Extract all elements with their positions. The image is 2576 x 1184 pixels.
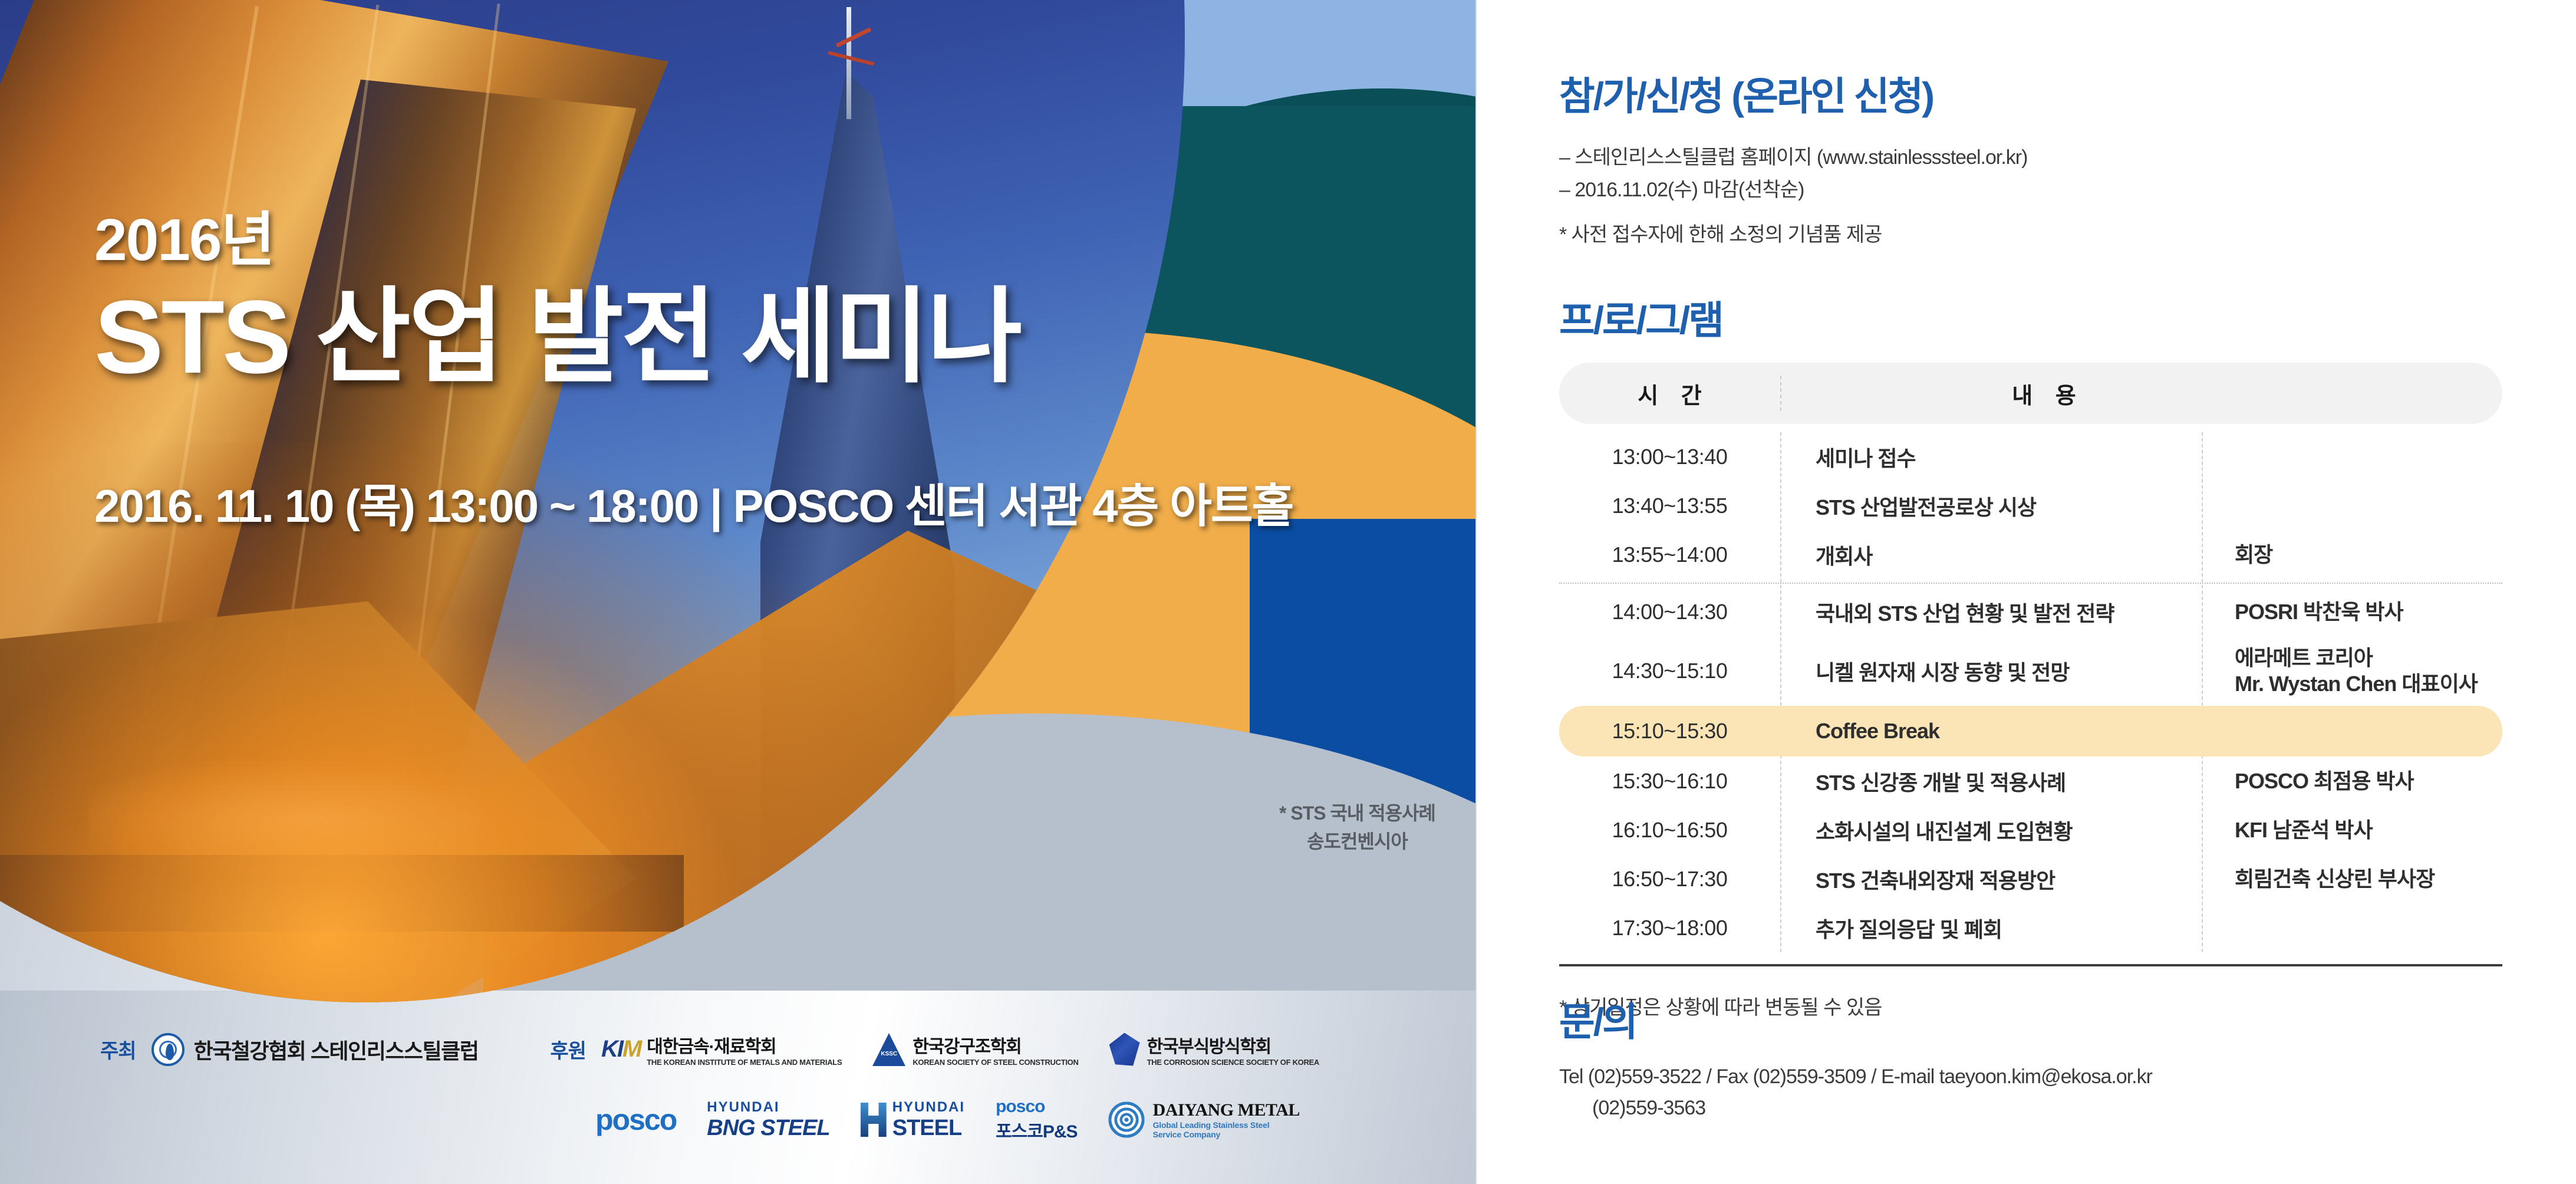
cell-time: 14:30~15:10 bbox=[1559, 659, 1780, 683]
cell-speaker: KFI 남준석 박사 bbox=[2202, 817, 2502, 843]
program-table: 시 간 내 용 13:00~13:40세미나 접수13:40~13:55STS … bbox=[1559, 363, 2502, 1020]
info-panel: 참/가/신/청 (온라인 신청) – 스테인리스스틸클럽 홈페이지 (www.s… bbox=[1477, 0, 2576, 1184]
logo-daiyang-metal: DAIYANG METAL Global Leading Stainless S… bbox=[1108, 1100, 1300, 1139]
photo-caption-line-2: 송도컨벤시아 bbox=[1279, 827, 1435, 856]
table-header-row: 시 간 내 용 bbox=[1559, 363, 2502, 424]
hyundai-line-2: STEEL bbox=[892, 1116, 965, 1141]
table-row: 13:40~13:55STS 산업발전공로상 시상 bbox=[1559, 481, 2502, 530]
apply-section-title: 참/가/신/청 (온라인 신청) bbox=[1559, 65, 1933, 121]
apply-bullets: – 스테인리스스틸클럽 홈페이지 (www.stainlesssteel.or.… bbox=[1559, 142, 2502, 206]
cssk-diamond-icon bbox=[1109, 1033, 1140, 1066]
contact-details: Tel (02)559-3522 / Fax (02)559-3509 / E-… bbox=[1559, 1061, 2152, 1123]
kssc-name-ko: 한국강구조학회 bbox=[913, 1032, 1078, 1058]
cell-time: 13:40~13:55 bbox=[1559, 494, 1780, 518]
cell-speaker: POSRI 박찬욱 박사 bbox=[2202, 599, 2502, 625]
bng-line-1: HYUNDAI bbox=[707, 1099, 829, 1116]
apply-bullet-2: – 2016.11.02(수) 마감(선착순) bbox=[1559, 174, 2502, 206]
daiyang-line-3: Service Company bbox=[1153, 1130, 1300, 1139]
daiyang-text: DAIYANG METAL Global Leading Stainless S… bbox=[1153, 1100, 1300, 1139]
logo-ksa: 한국철강협회 스테인리스스틸클럽 bbox=[151, 1033, 479, 1066]
support-label: 후원 bbox=[550, 1035, 586, 1064]
hyundai-line-1: HYUNDAI bbox=[892, 1099, 965, 1116]
cell-description: STS 산업발전공로상 시상 bbox=[1780, 491, 2202, 521]
cell-description: 소화시설의 내진설계 도입현황 bbox=[1780, 815, 2202, 846]
logo-bng-steel: HYUNDAI BNG STEEL bbox=[707, 1099, 829, 1141]
daiyang-line-1: DAIYANG METAL bbox=[1153, 1100, 1300, 1120]
kim-mark-icon: KIM bbox=[601, 1036, 641, 1063]
kssc-triangle-icon bbox=[872, 1033, 905, 1066]
logo-kssc: 한국강구조학회 Korean Society of Steel Construc… bbox=[872, 1032, 1078, 1067]
hyundai-text: HYUNDAI STEEL bbox=[892, 1099, 965, 1141]
hero-year: 2016년 bbox=[94, 209, 1020, 271]
ksa-seal-icon bbox=[151, 1033, 185, 1066]
program-footnote: * 상기일정은 상황에 따라 변동될 수 있음 bbox=[1559, 991, 2502, 1020]
kim-text: 대한금속·재료학회 The Korean Institute of Metals… bbox=[647, 1032, 842, 1067]
cell-description: 니켈 원자재 시장 동향 및 전망 bbox=[1780, 656, 2202, 686]
kssc-name-en: Korean Society of Steel Construction bbox=[913, 1058, 1078, 1067]
kssc-text: 한국강구조학회 Korean Society of Steel Construc… bbox=[913, 1032, 1078, 1067]
logo-posco-pns: posco 포스코P&S bbox=[996, 1097, 1078, 1143]
cell-time: 16:50~17:30 bbox=[1559, 867, 1780, 892]
table-row: 13:00~13:40세미나 접수 bbox=[1559, 432, 2502, 481]
cell-time: 15:10~15:30 bbox=[1559, 719, 1780, 744]
table-row: 16:50~17:30STS 건축내외장재 적용방안희림건축 신상린 부사장 bbox=[1559, 854, 2502, 903]
pns-text: posco 포스코P&S bbox=[996, 1097, 1078, 1143]
host-sponsor-row: 주최 한국철강협회 스테인리스스틸클럽 후원 KIM 대한금속·재료학회 The… bbox=[100, 1032, 1350, 1067]
logo-hyundai-steel: HYUNDAI STEEL bbox=[861, 1099, 965, 1141]
daiyang-spiral-icon bbox=[1108, 1101, 1145, 1138]
cell-time: 16:10~16:50 bbox=[1559, 818, 1780, 843]
cssk-name-ko: 한국부식방식학회 bbox=[1147, 1032, 1319, 1058]
cell-description: 개회사 bbox=[1780, 540, 2202, 570]
cell-description: 세미나 접수 bbox=[1780, 442, 2202, 472]
table-row: 13:55~14:00개회사회장 bbox=[1559, 530, 2502, 579]
cell-speaker: 에라메트 코리아Mr. Wystan Chen 대표이사 bbox=[2202, 645, 2502, 697]
cssk-text: 한국부식방식학회 The Corrosion Science Society o… bbox=[1147, 1032, 1319, 1067]
table-bottom-rule bbox=[1559, 964, 2502, 966]
cell-speaker: 회장 bbox=[2202, 542, 2502, 568]
company-sponsor-row: posco HYUNDAI BNG STEEL HYUNDAI STEEL po… bbox=[595, 1097, 1330, 1143]
hero-subtitle: 2016. 11. 10 (목) 13:00 ~ 18:00 | POSCO 센… bbox=[94, 469, 1293, 535]
table-row: 17:30~18:00추가 질의응답 및 폐회 bbox=[1559, 903, 2502, 952]
table-row: 14:00~14:30국내외 STS 산업 현황 및 발전 전략POSRI 박찬… bbox=[1559, 587, 2502, 636]
kim-name-en: The Korean Institute of Metals and Mater… bbox=[647, 1058, 842, 1067]
contact-section-title: 문/의 bbox=[1559, 991, 1636, 1047]
cell-time: 13:00~13:40 bbox=[1559, 445, 1780, 469]
photo-spire bbox=[846, 7, 851, 119]
host-name: 한국철강협회 스테인리스스틸클럽 bbox=[194, 1034, 479, 1065]
table-body: 13:00~13:40세미나 접수13:40~13:55STS 산업발전공로상 … bbox=[1559, 432, 2502, 952]
cell-speaker: 희림건축 신상린 부사장 bbox=[2202, 866, 2502, 892]
bng-text: HYUNDAI BNG STEEL bbox=[707, 1099, 829, 1141]
posco-wordmark: posco bbox=[595, 1103, 676, 1137]
cell-description: 추가 질의응답 및 폐회 bbox=[1780, 913, 2202, 943]
seminar-poster: 2016년 STS 산업 발전 세미나 2016. 11. 10 (목) 13:… bbox=[0, 0, 2576, 1184]
table-row: 16:10~16:50소화시설의 내진설계 도입현황KFI 남준석 박사 bbox=[1559, 805, 2502, 854]
decor-silver-band bbox=[0, 991, 1477, 1184]
cssk-name-en: The Corrosion Science Society of Korea bbox=[1147, 1058, 1319, 1067]
cell-description: STS 신강종 개발 및 적용사례 bbox=[1780, 766, 2202, 797]
apply-note: * 사전 접수자에 한해 소정의 기념품 제공 bbox=[1559, 218, 1882, 247]
bng-line-2: BNG STEEL bbox=[707, 1116, 829, 1141]
row-group-separator bbox=[1559, 583, 2502, 584]
apply-bullet-1: – 스테인리스스틸클럽 홈페이지 (www.stainlesssteel.or.… bbox=[1559, 142, 2502, 174]
logo-cssk: 한국부식방식학회 The Corrosion Science Society o… bbox=[1109, 1032, 1319, 1067]
cell-description: 국내외 STS 산업 현황 및 발전 전략 bbox=[1780, 597, 2202, 627]
cell-description: Coffee Break bbox=[1780, 719, 2202, 744]
logo-posco: posco bbox=[595, 1103, 676, 1137]
cell-speaker: POSCO 최점용 박사 bbox=[2202, 768, 2502, 794]
program-section-title: 프/로/그/램 bbox=[1559, 289, 1722, 346]
photo-caption-line-1: * STS 국내 적용사례 bbox=[1279, 799, 1435, 827]
table-row: 14:30~15:10니켈 원자재 시장 동향 및 전망에라메트 코리아Mr. … bbox=[1559, 636, 2502, 706]
cell-description: STS 건축내외장재 적용방안 bbox=[1780, 864, 2202, 894]
cell-time: 17:30~18:00 bbox=[1559, 916, 1780, 940]
pns-line-2: 포스코P&S bbox=[996, 1117, 1078, 1143]
kim-name-ko: 대한금속·재료학회 bbox=[647, 1032, 842, 1058]
hero-panel: 2016년 STS 산업 발전 세미나 2016. 11. 10 (목) 13:… bbox=[0, 0, 1477, 1184]
daiyang-line-2: Global Leading Stainless Steel bbox=[1153, 1120, 1300, 1130]
hero-headline: 2016년 STS 산업 발전 세미나 bbox=[94, 209, 1020, 395]
cell-time: 14:00~14:30 bbox=[1559, 600, 1780, 624]
pns-line-1: posco bbox=[996, 1097, 1078, 1117]
photo-caption: * STS 국내 적용사례 송도컨벤시아 bbox=[1279, 799, 1435, 856]
contact-line-1: Tel (02)559-3522 / Fax (02)559-3509 / E-… bbox=[1559, 1061, 2152, 1093]
contact-line-2: (02)559-3563 bbox=[1559, 1093, 2152, 1124]
column-header-time: 시 간 bbox=[1559, 377, 1780, 410]
hero-title: STS 산업 발전 세미나 bbox=[94, 281, 1020, 395]
hyundai-h-icon bbox=[861, 1103, 887, 1137]
cell-time: 15:30~16:10 bbox=[1559, 769, 1780, 794]
column-header-content: 내 용 bbox=[1780, 377, 2502, 410]
table-row-break: 15:10~15:30Coffee Break bbox=[1559, 706, 2502, 757]
table-row: 15:30~16:10STS 신강종 개발 및 적용사례POSCO 최점용 박사 bbox=[1559, 757, 2502, 805]
host-label: 주최 bbox=[100, 1035, 136, 1064]
logo-kim: KIM 대한금속·재료학회 The Korean Institute of Me… bbox=[601, 1032, 842, 1067]
header-column-divider bbox=[1780, 376, 1781, 411]
cell-time: 13:55~14:00 bbox=[1559, 542, 1780, 567]
